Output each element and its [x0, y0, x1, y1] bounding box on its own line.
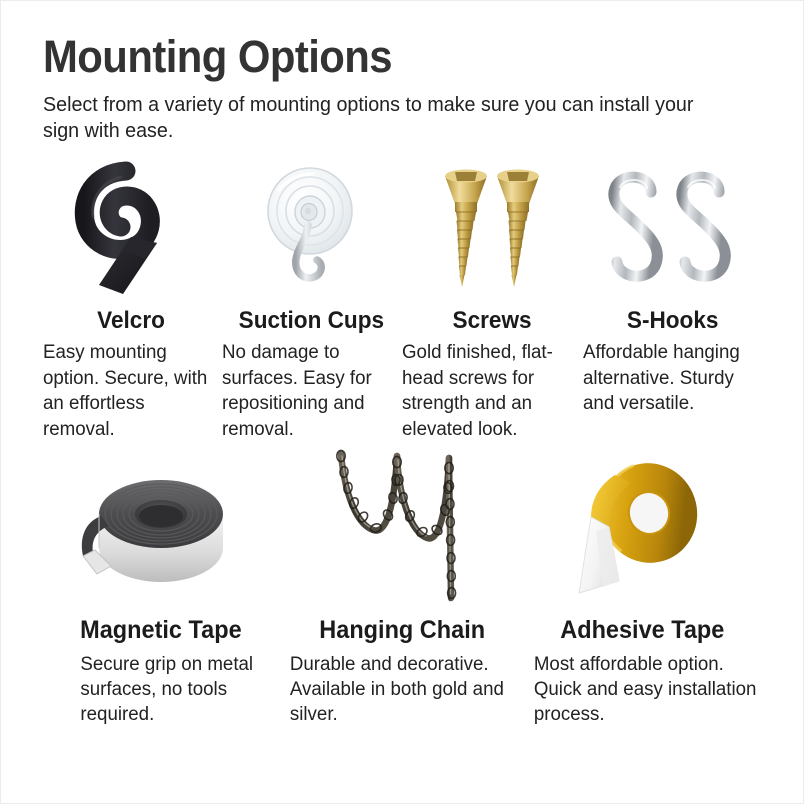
option-description: Affordable hanging alternative. Sturdy a…: [583, 340, 761, 416]
option-card-screws: Screws Gold finished, flat-head screws f…: [402, 161, 583, 442]
option-card-suction-cups: Suction Cups No damage to surfaces. Easy…: [222, 161, 403, 442]
option-card-magnetic-tape: Magnetic Tape Secure grip on metal surfa…: [41, 451, 282, 728]
option-description: Gold finished, flat-head screws for stre…: [402, 340, 580, 442]
option-card-hanging-chain: Hanging Chain Durable and decorative. Av…: [282, 451, 523, 728]
option-description: Secure grip on metal surfaces, no tools …: [41, 652, 278, 728]
options-row-1: Velcro Easy mounting option. Secure, wit…: [41, 161, 763, 442]
option-title: Suction Cups: [239, 308, 384, 334]
option-description: Easy mounting option. Secure, with an ef…: [41, 340, 221, 442]
page-title: Mounting Options: [43, 33, 713, 82]
option-title: Hanging Chain: [319, 617, 485, 645]
options-row-2: Magnetic Tape Secure grip on metal surfa…: [41, 451, 763, 728]
option-description: Most affordable option. Quick and easy i…: [522, 652, 759, 728]
suction-cup-hook-icon: [222, 161, 403, 296]
magnetic-tape-roll-icon: [41, 451, 282, 601]
option-description: Durable and decorative. Available in bot…: [282, 652, 519, 728]
velcro-strap-icon: [41, 161, 222, 296]
option-title: Magnetic Tape: [81, 617, 242, 645]
option-title: Screws: [453, 308, 532, 334]
option-card-velcro: Velcro Easy mounting option. Secure, wit…: [41, 161, 222, 442]
header: Mounting Options Select from a variety o…: [43, 33, 763, 144]
gold-screws-icon: [402, 161, 583, 296]
option-description: No damage to surfaces. Easy for repositi…: [222, 340, 400, 442]
mounting-options-infographic: Mounting Options Select from a variety o…: [0, 0, 804, 804]
adhesive-tape-roll-icon: [522, 451, 763, 601]
hanging-chain-icon: [282, 451, 523, 601]
s-hooks-icon: [583, 161, 764, 296]
option-title: Adhesive Tape: [561, 617, 725, 645]
option-title: S-Hooks: [627, 308, 719, 334]
option-title: Velcro: [97, 308, 165, 334]
page-subtitle: Select from a variety of mounting option…: [43, 92, 723, 145]
option-card-s-hooks: S-Hooks Affordable hanging alternative. …: [583, 161, 764, 442]
option-card-adhesive-tape: Adhesive Tape Most affordable option. Qu…: [522, 451, 763, 728]
